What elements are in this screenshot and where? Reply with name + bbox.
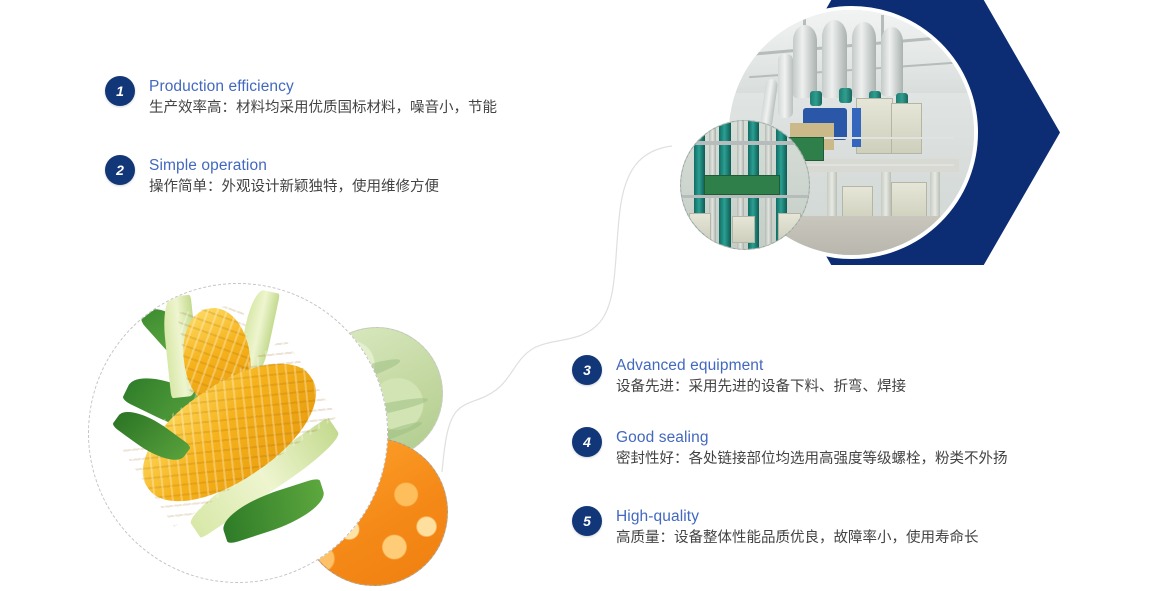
feature-badge-number: 3 [572, 355, 602, 385]
infographic-canvas: 1 Production efficiency 生产效率高：材料均采用优质国标材… [0, 0, 1154, 591]
feature-title-en: High-quality [616, 507, 979, 526]
feature-text-block: Advanced equipment 设备先进：采用先进的设备下料、折弯、焊接 [616, 355, 906, 398]
feature-desc-cn: 高质量：设备整体性能品质优良，故障率小，使用寿命长 [616, 528, 979, 549]
feature-desc-cn: 生产效率高：材料均采用优质国标材料，噪音小，节能 [149, 98, 497, 119]
feature-item-4[interactable]: 4 Good sealing 密封性好：各处链接部位均选用高强度等级螺栓，粉类不… [572, 427, 1008, 470]
feature-badge-number: 5 [572, 506, 602, 536]
feature-desc-cn: 密封性好：各处链接部位均选用高强度等级螺栓，粉类不外扬 [616, 449, 1008, 470]
feature-item-5[interactable]: 5 High-quality 高质量：设备整体性能品质优良，故障率小，使用寿命长 [572, 506, 979, 549]
feature-item-2[interactable]: 2 Simple operation 操作简单：外观设计新颖独特，使用维修方便 [105, 155, 439, 198]
feature-text-block: High-quality 高质量：设备整体性能品质优良，故障率小，使用寿命长 [616, 506, 979, 549]
feature-item-1[interactable]: 1 Production efficiency 生产效率高：材料均采用优质国标材… [105, 76, 497, 119]
feature-desc-cn: 设备先进：采用先进的设备下料、折弯、焊接 [616, 377, 906, 398]
feature-text-block: Good sealing 密封性好：各处链接部位均选用高强度等级螺栓，粉类不外扬 [616, 427, 1008, 470]
green-milling-line-photo [680, 120, 810, 250]
feature-title-en: Simple operation [149, 156, 439, 175]
feature-title-en: Advanced equipment [616, 356, 906, 375]
feature-desc-cn: 操作简单：外观设计新颖独特，使用维修方便 [149, 177, 439, 198]
feature-item-3[interactable]: 3 Advanced equipment 设备先进：采用先进的设备下料、折弯、焊… [572, 355, 906, 398]
feature-text-block: Simple operation 操作简单：外观设计新颖独特，使用维修方便 [149, 155, 439, 198]
feature-title-en: Good sealing [616, 428, 1008, 447]
feature-badge-number: 1 [105, 76, 135, 106]
feature-badge-number: 4 [572, 427, 602, 457]
feature-title-en: Production efficiency [149, 77, 497, 96]
corn-photo-cluster [88, 283, 468, 591]
corn-cob-photo [88, 283, 388, 583]
feature-badge-number: 2 [105, 155, 135, 185]
feature-text-block: Production efficiency 生产效率高：材料均采用优质国标材料，… [149, 76, 497, 119]
